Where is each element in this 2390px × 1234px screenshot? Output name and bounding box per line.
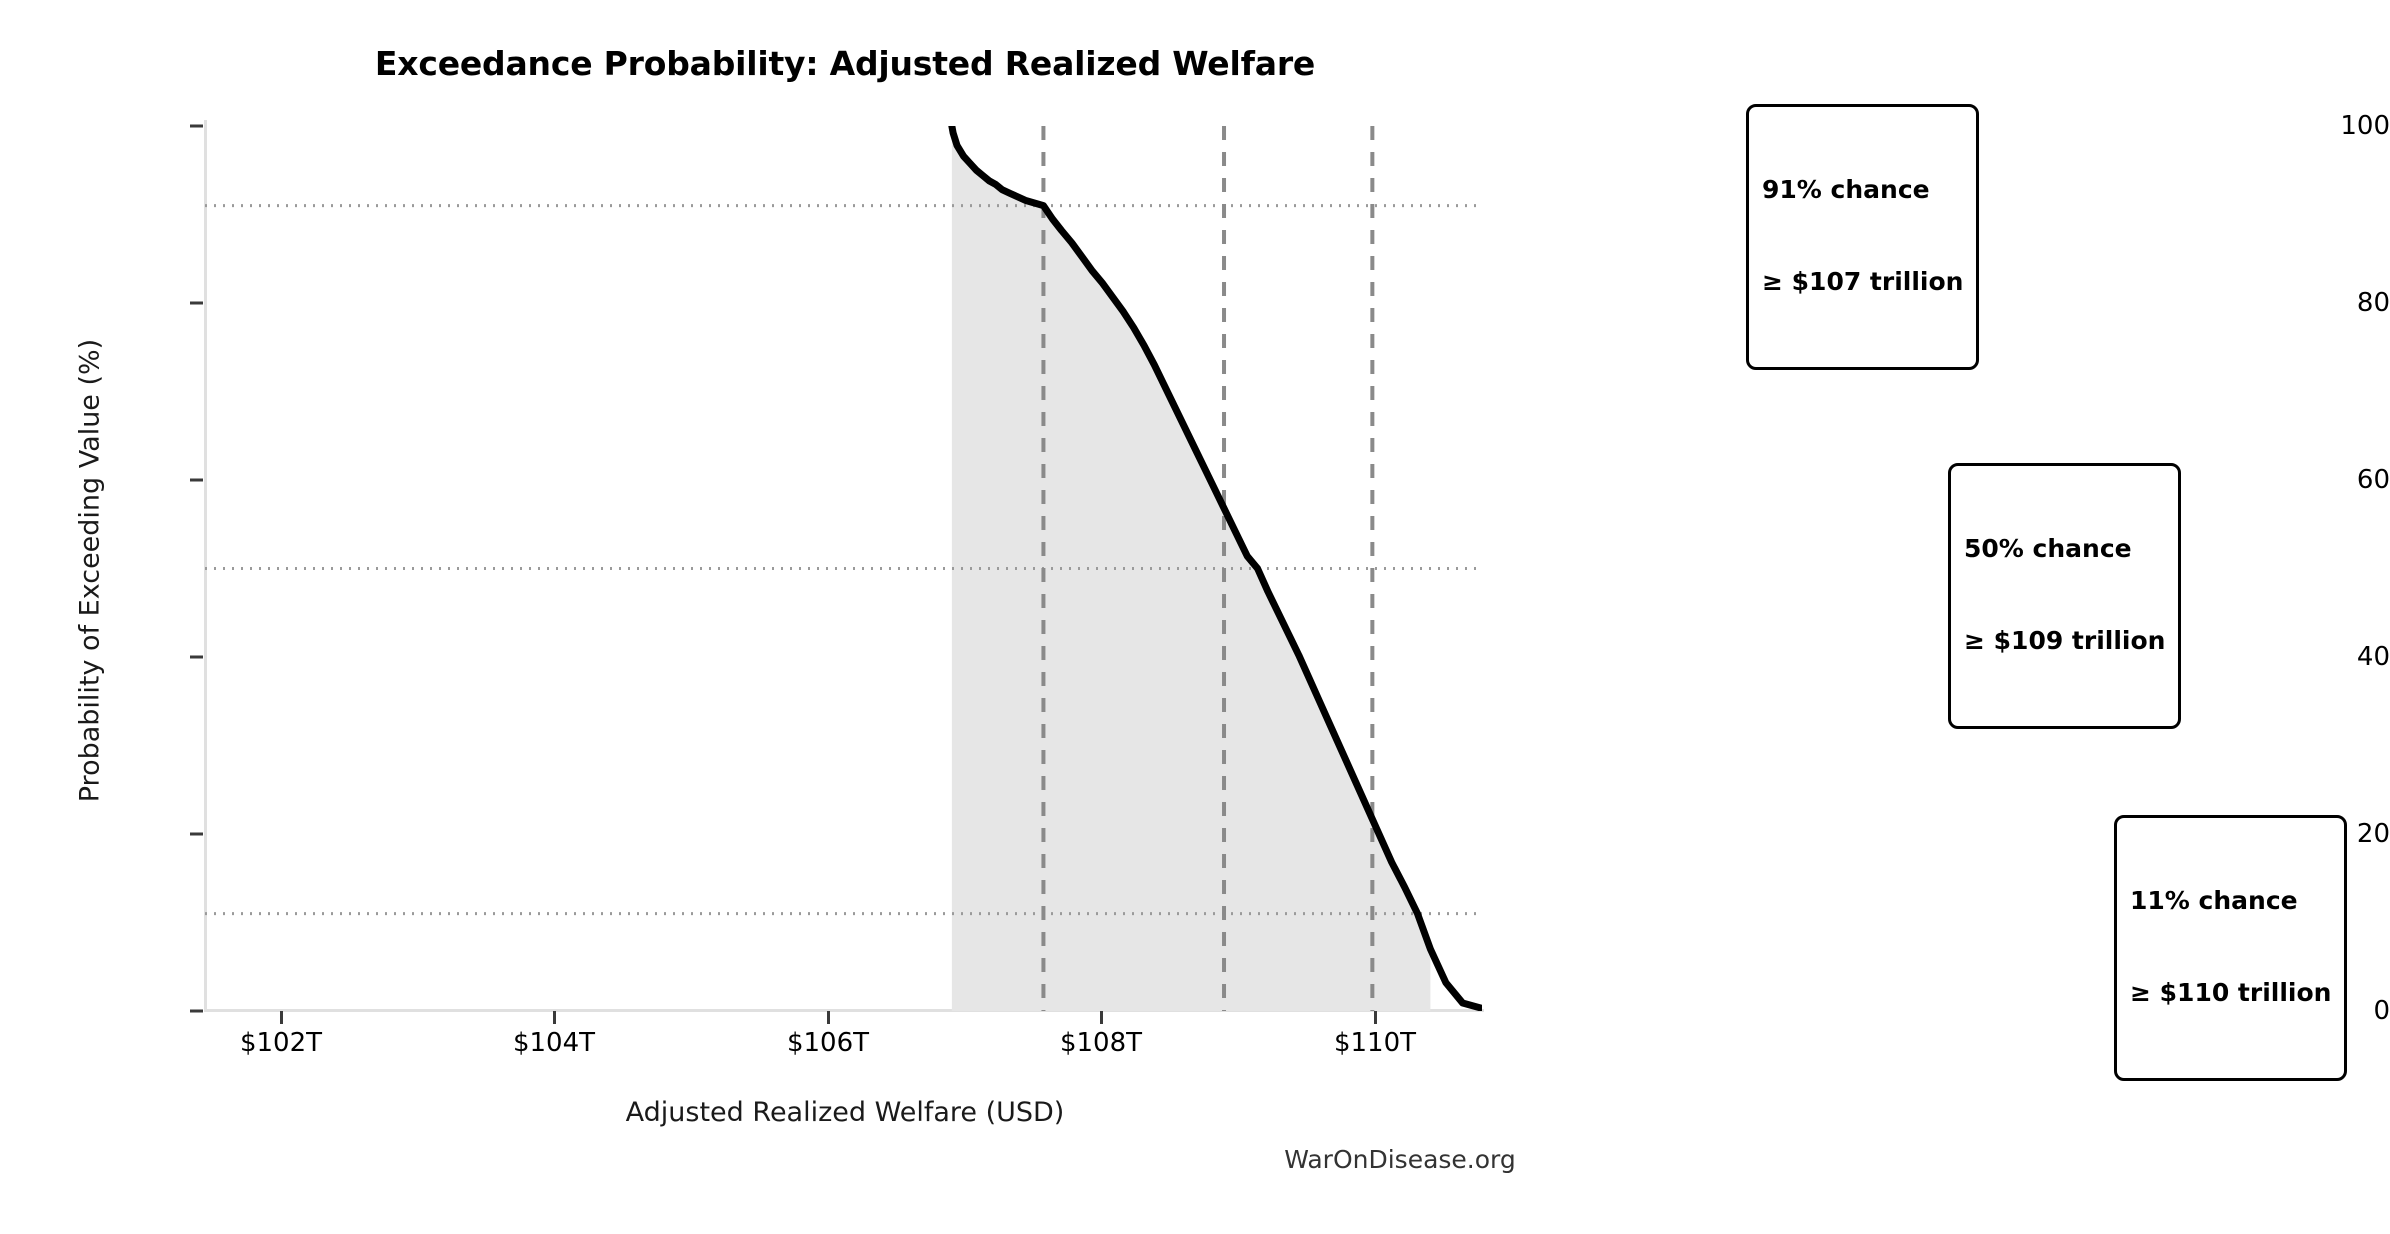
x-tick-mark-102 xyxy=(280,1011,283,1024)
x-axis-label: Adjusted Realized Welfare (USD) xyxy=(205,1097,1485,1128)
x-tick-label-106: $106T xyxy=(738,1028,918,1058)
annotation-11-chance: 11% chance ≥ $110 trillion xyxy=(2114,815,2347,1081)
x-tick-mark-108 xyxy=(1100,1011,1103,1024)
annotation-91-line1: 91% chance xyxy=(1762,175,1963,206)
x-tick-label-108: $108T xyxy=(1011,1028,1191,1058)
annotation-50-line2: ≥ $109 trillion xyxy=(1964,626,2165,657)
x-tick-label-110: $110T xyxy=(1285,1028,1465,1058)
y-tick-mark-0 xyxy=(190,1010,203,1013)
annotation-50-line1: 50% chance xyxy=(1964,534,2165,565)
y-tick-label-80: 80 xyxy=(2270,288,2390,318)
annotation-50-chance: 50% chance ≥ $109 trillion xyxy=(1948,463,2181,729)
x-tick-label-104: $104T xyxy=(464,1028,644,1058)
y-axis-label: Probability of Exceeding Value (%) xyxy=(75,221,106,921)
y-tick-mark-20 xyxy=(190,833,203,836)
y-tick-mark-40 xyxy=(190,656,203,659)
x-tick-mark-110 xyxy=(1374,1011,1377,1024)
y-tick-label-40: 40 xyxy=(2270,642,2390,672)
annotation-11-line2: ≥ $110 trillion xyxy=(2130,978,2331,1009)
y-tick-mark-100 xyxy=(190,125,203,128)
annotation-11-line1: 11% chance xyxy=(2130,886,2331,917)
x-tick-label-102: $102T xyxy=(191,1028,371,1058)
y-tick-label-100: 100 xyxy=(2270,111,2390,141)
chart-title: Exceedance Probability: Adjusted Realize… xyxy=(205,44,1485,83)
x-tick-mark-104 xyxy=(553,1011,556,1024)
plot-canvas xyxy=(205,126,1482,1011)
y-tick-mark-60 xyxy=(190,479,203,482)
y-tick-mark-80 xyxy=(190,302,203,305)
annotation-91-chance: 91% chance ≥ $107 trillion xyxy=(1746,104,1979,370)
x-tick-mark-106 xyxy=(827,1011,830,1024)
y-tick-label-60: 60 xyxy=(2270,465,2390,495)
chart-figure: Exceedance Probability: Adjusted Realize… xyxy=(0,0,2390,1234)
credit-text: WarOnDisease.org xyxy=(1090,1145,1710,1174)
annotation-91-line2: ≥ $107 trillion xyxy=(1762,267,1963,298)
